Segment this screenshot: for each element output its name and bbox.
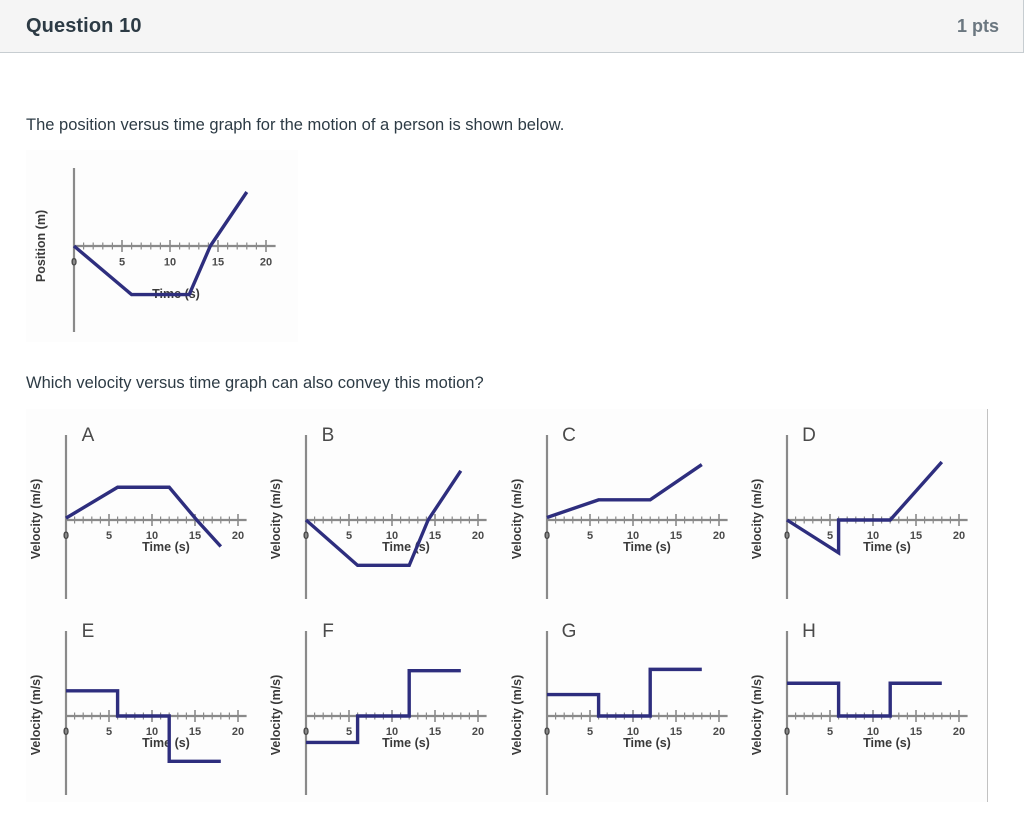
question-header: Question 10 1 pts: [0, 0, 1024, 53]
x-axis-title: Time (s): [623, 736, 671, 750]
intro-text: The position versus time graph for the m…: [26, 115, 998, 136]
x-tick-label: 15: [429, 530, 441, 542]
question-body: The position versus time graph for the m…: [0, 115, 1024, 802]
x-tick-label: 20: [953, 530, 965, 542]
x-tick-label: 20: [232, 530, 244, 542]
question-text: Which velocity versus time graph can als…: [26, 373, 998, 394]
x-tick-label: 0: [303, 530, 309, 542]
velocity-time-graph-a: 05101520Time (s)Velocity (m/s)A: [26, 409, 266, 605]
x-tick-label: 0: [71, 257, 77, 269]
x-tick-label: 10: [164, 257, 176, 269]
x-tick-label: 0: [303, 726, 309, 738]
y-axis-title: Velocity (m/s): [750, 479, 764, 560]
x-tick-label: 5: [827, 530, 833, 542]
x-tick-label: 0: [543, 530, 549, 542]
choice-letter: C: [562, 425, 576, 446]
x-tick-label: 15: [669, 726, 681, 738]
choice-letter: G: [561, 621, 576, 642]
y-axis-title: Velocity (m/s): [510, 479, 524, 560]
answer-choice-H[interactable]: 05101520Time (s)Velocity (m/s)H: [747, 605, 987, 802]
velocity-time-graph-b: 05101520Time (s)Velocity (m/s)B: [266, 409, 506, 605]
x-axis-title: Time (s): [142, 736, 190, 750]
x-tick-label: 5: [586, 726, 592, 738]
velocity-time-graph-c: 05101520Time (s)Velocity (m/s)C: [507, 409, 747, 605]
x-tick-label: 15: [429, 726, 441, 738]
x-tick-label: 5: [119, 257, 125, 269]
y-axis-title: Velocity (m/s): [29, 675, 43, 756]
y-axis-title: Position (m): [34, 210, 48, 282]
x-tick-label: 20: [472, 530, 484, 542]
x-tick-label: 0: [784, 530, 790, 542]
answer-choice-B[interactable]: 05101520Time (s)Velocity (m/s)B: [266, 409, 506, 606]
choice-letter: A: [82, 425, 95, 446]
x-tick-label: 20: [260, 257, 272, 269]
x-tick-label: 15: [212, 257, 224, 269]
position-time-figure: 05101520Time (s)Position (m): [26, 150, 298, 342]
answer-choices-panel: 05101520Time (s)Velocity (m/s)A 05101520…: [26, 409, 988, 802]
page-title: Question 10: [26, 15, 142, 38]
data-series-line: [547, 670, 702, 717]
x-tick-label: 20: [712, 726, 724, 738]
data-series-line: [547, 464, 702, 517]
x-tick-label: 5: [586, 530, 592, 542]
x-axis-title: Time (s): [863, 540, 911, 554]
x-tick-label: 5: [346, 726, 352, 738]
x-tick-label: 5: [106, 726, 112, 738]
y-axis-title: Velocity (m/s): [29, 479, 43, 560]
choice-letter: F: [322, 621, 334, 642]
x-tick-label: 15: [189, 726, 201, 738]
velocity-time-graph-g: 05101520Time (s)Velocity (m/s)G: [507, 605, 747, 801]
x-tick-label: 0: [784, 726, 790, 738]
velocity-time-graph-e: 05101520Time (s)Velocity (m/s)E: [26, 605, 266, 801]
position-time-graph: 05101520Time (s)Position (m): [26, 150, 298, 342]
x-tick-label: 15: [910, 726, 922, 738]
velocity-time-graph-d: 05101520Time (s)Velocity (m/s)D: [747, 409, 987, 605]
x-tick-label: 5: [106, 530, 112, 542]
choice-letter: B: [322, 425, 335, 446]
x-axis-title: Time (s): [142, 540, 190, 554]
x-tick-label: 20: [953, 726, 965, 738]
x-axis-title: Time (s): [863, 736, 911, 750]
y-axis-title: Velocity (m/s): [269, 479, 283, 560]
velocity-time-graph-f: 05101520Time (s)Velocity (m/s)F: [266, 605, 506, 801]
y-axis-title: Velocity (m/s): [750, 675, 764, 756]
points-badge: 1 pts: [957, 16, 999, 37]
x-tick-label: 0: [63, 726, 69, 738]
x-tick-label: 15: [189, 530, 201, 542]
velocity-time-graph-h: 05101520Time (s)Velocity (m/s)H: [747, 605, 987, 801]
x-tick-label: 20: [472, 726, 484, 738]
x-axis-title: Time (s): [382, 540, 430, 554]
x-tick-label: 15: [669, 530, 681, 542]
x-tick-label: 5: [827, 726, 833, 738]
x-tick-label: 0: [63, 530, 69, 542]
data-series-line: [787, 684, 942, 717]
x-tick-label: 15: [910, 530, 922, 542]
answer-choice-F[interactable]: 05101520Time (s)Velocity (m/s)F: [266, 605, 506, 802]
choice-letter: D: [802, 425, 816, 446]
choice-letter: E: [82, 621, 95, 642]
x-tick-label: 0: [543, 726, 549, 738]
y-axis-title: Velocity (m/s): [269, 675, 283, 756]
x-tick-label: 5: [346, 530, 352, 542]
y-axis-title: Velocity (m/s): [510, 675, 524, 756]
answer-choice-E[interactable]: 05101520Time (s)Velocity (m/s)E: [26, 605, 266, 802]
answer-choice-A[interactable]: 05101520Time (s)Velocity (m/s)A: [26, 409, 266, 606]
x-tick-label: 20: [232, 726, 244, 738]
x-axis-title: Time (s): [382, 736, 430, 750]
x-axis-title: Time (s): [623, 540, 671, 554]
choice-letter: H: [802, 621, 816, 642]
answer-choice-G[interactable]: 05101520Time (s)Velocity (m/s)G: [507, 605, 747, 802]
answer-choice-C[interactable]: 05101520Time (s)Velocity (m/s)C: [507, 409, 747, 606]
x-tick-label: 20: [712, 530, 724, 542]
answer-choice-D[interactable]: 05101520Time (s)Velocity (m/s)D: [747, 409, 987, 606]
